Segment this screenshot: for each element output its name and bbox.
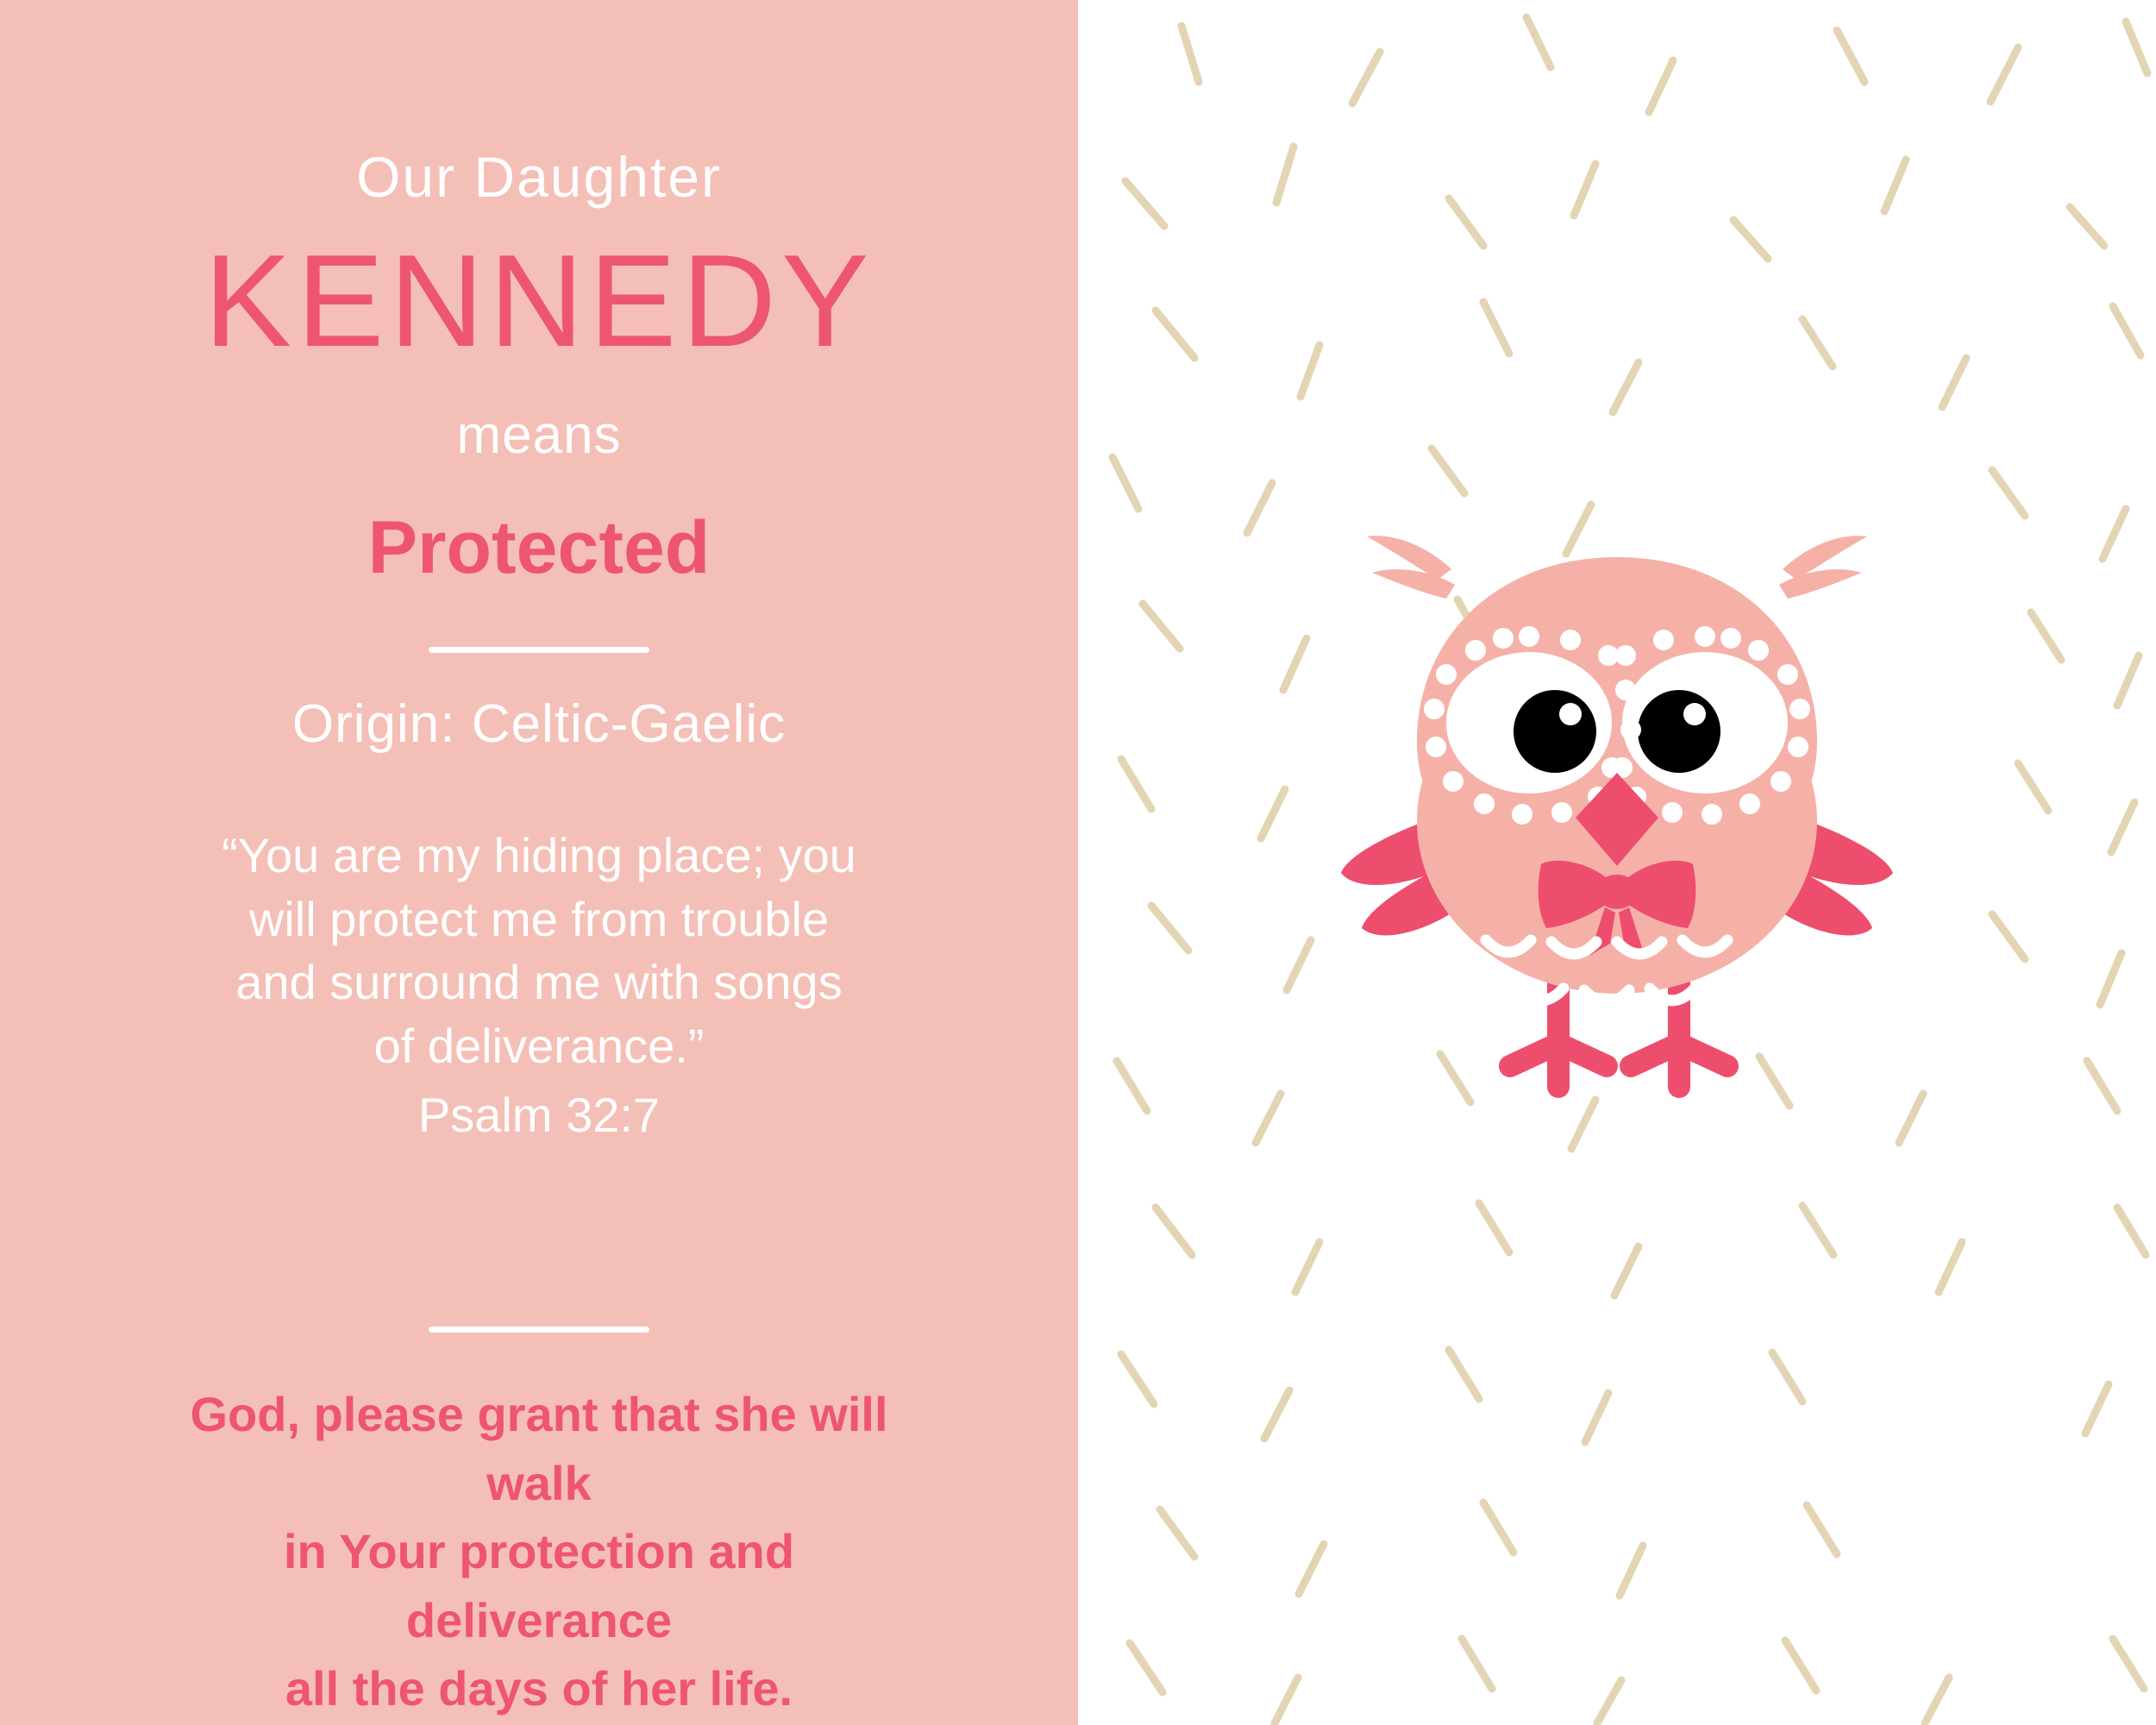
eyebrow-our-daughter: Our Daughter bbox=[356, 148, 722, 205]
name-meaning-card: Our Daughter KENNEDY means Protected Ori… bbox=[0, 0, 2156, 1725]
page-title-name: KENNEDY bbox=[204, 233, 874, 371]
right-white-panel: ForEvery MOM bbox=[1078, 0, 2156, 1725]
verse-reference: Psalm 32:7 bbox=[151, 1083, 927, 1147]
prayer-line: in Your protection and deliverance bbox=[155, 1517, 923, 1654]
owl-eye-glint-left bbox=[1559, 703, 1582, 725]
divider-top bbox=[429, 647, 649, 653]
verse-line: “You are my hiding place; you bbox=[151, 824, 927, 888]
prayer-text: God, please grant that she will walk in … bbox=[0, 1380, 1078, 1723]
name-meaning: Protected bbox=[368, 511, 711, 585]
owl-pupil-right bbox=[1638, 690, 1720, 773]
verse-line: of deliverance.” bbox=[151, 1014, 927, 1078]
prayer-line: all the days of her life. bbox=[155, 1654, 923, 1723]
verse-line: and surround me with songs bbox=[151, 950, 927, 1014]
name-origin: Origin: Celtic-Gaelic bbox=[292, 698, 786, 751]
left-pink-panel: Our Daughter KENNEDY means Protected Ori… bbox=[0, 0, 1078, 1725]
means-label: means bbox=[456, 409, 621, 462]
prayer-line: God, please grant that she will walk bbox=[155, 1380, 923, 1517]
owl-illustration bbox=[1341, 483, 1893, 1138]
owl-eye-glint-right bbox=[1683, 703, 1706, 725]
divider-bottom bbox=[429, 1327, 649, 1333]
scripture-verse: “You are my hiding place; you will prote… bbox=[151, 824, 927, 1148]
divider-bottom-wrap bbox=[0, 1327, 1078, 1333]
verse-line: will protect me from trouble bbox=[151, 888, 927, 951]
owl-pupil-left bbox=[1514, 690, 1596, 773]
owl-svg bbox=[1341, 483, 1893, 1138]
